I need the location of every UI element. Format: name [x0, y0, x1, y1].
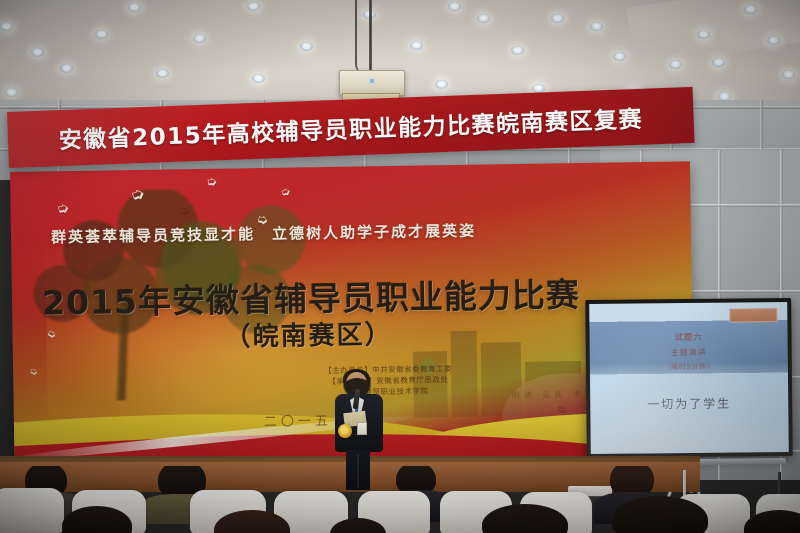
ceiling-downlight — [669, 60, 682, 69]
ceiling-downlight — [156, 69, 169, 78]
ceiling-downlight — [551, 14, 564, 23]
ceiling-downlight — [511, 46, 524, 55]
projection-screen-surface: 试题六 主题演讲 （限时5分钟） 一切为了学生 — [589, 302, 789, 454]
dove-icon: ➭ — [28, 367, 39, 379]
ceiling-downlight — [697, 30, 710, 39]
overhead-banner-text: 安徽省2015年高校辅导员职业能力比赛皖南赛区复赛 — [58, 100, 643, 155]
backdrop-subtitle: （皖南赛区） — [224, 314, 393, 354]
ceiling-downlight — [5, 88, 18, 97]
ceiling-downlight — [0, 22, 13, 31]
ceiling-downlight — [252, 74, 265, 83]
ceiling-downlight — [712, 58, 725, 67]
audience-head — [744, 510, 800, 533]
ceiling-downlight — [247, 2, 260, 11]
ceiling-downlight — [95, 30, 108, 39]
ceiling-downlight — [410, 41, 423, 50]
presenter-name-badge — [357, 422, 367, 435]
ceiling-downlight — [128, 3, 141, 12]
audience-area — [0, 466, 800, 533]
ceiling-downlight — [31, 48, 44, 57]
ceiling-downlight — [193, 34, 206, 43]
flower-rosette-icon — [338, 424, 352, 438]
projector-status-led — [370, 79, 374, 83]
bird-icon: ➭ — [179, 203, 190, 219]
ceiling-downlight — [448, 2, 461, 11]
projection-screen: 试题六 主题演讲 （限时5分钟） 一切为了学生 — [585, 298, 793, 458]
audience-chair — [0, 488, 64, 533]
ceiling-downlight — [477, 14, 490, 23]
dove-icon: ➭ — [205, 174, 217, 188]
ceiling-downlight — [590, 22, 603, 31]
ceiling-downlight — [60, 64, 73, 73]
ceiling-downlight — [744, 5, 757, 14]
ceiling-downlight — [782, 70, 795, 79]
projector-mount-pole — [369, 0, 372, 72]
ceiling-downlight — [435, 80, 448, 89]
ceiling-downlight — [613, 52, 626, 61]
ceiling-downlight — [300, 42, 313, 51]
screen-glare — [589, 302, 789, 454]
ceiling-downlight — [767, 36, 780, 45]
auditorium-scene: ➭ ➭ ➭ ➭ ➭ ➭ ➭ ➭ ➭ 明德 弘商 求实 砺能 群英荟萃辅导员竞技显… — [0, 0, 800, 533]
dove-icon: ➭ — [55, 200, 71, 217]
